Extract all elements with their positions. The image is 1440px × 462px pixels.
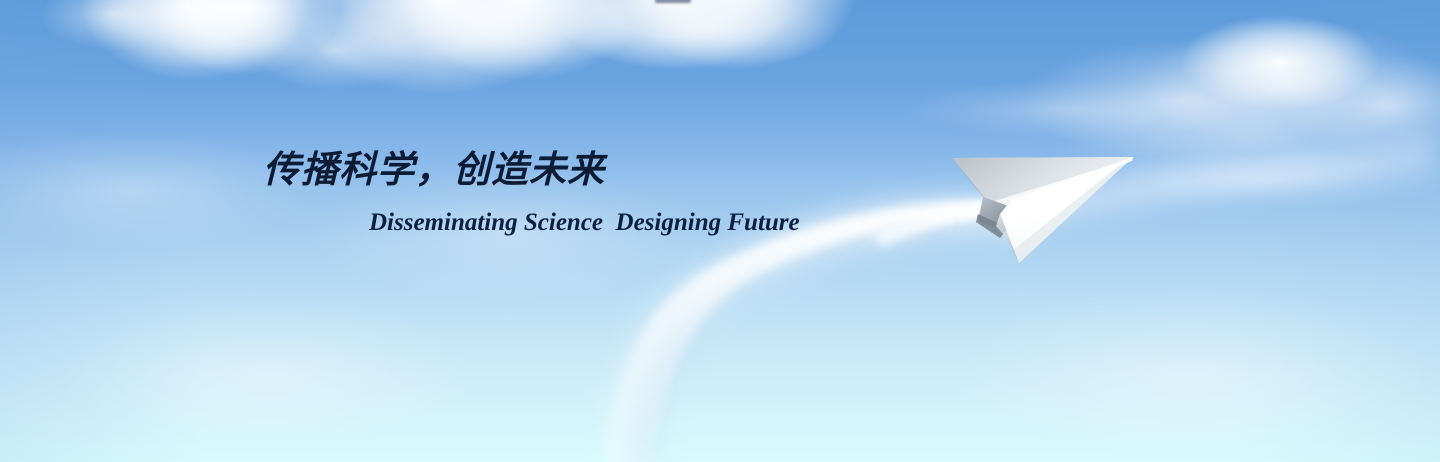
tagline-chinese: 传播科学，创造未来 [263, 152, 605, 189]
tagline-english: Disseminating Science Designing Future [369, 210, 800, 235]
sky-banner: 传播科学，创造未来 Disseminating Science Designin… [0, 0, 1440, 462]
top-edge-crop-artifact [655, 0, 691, 3]
